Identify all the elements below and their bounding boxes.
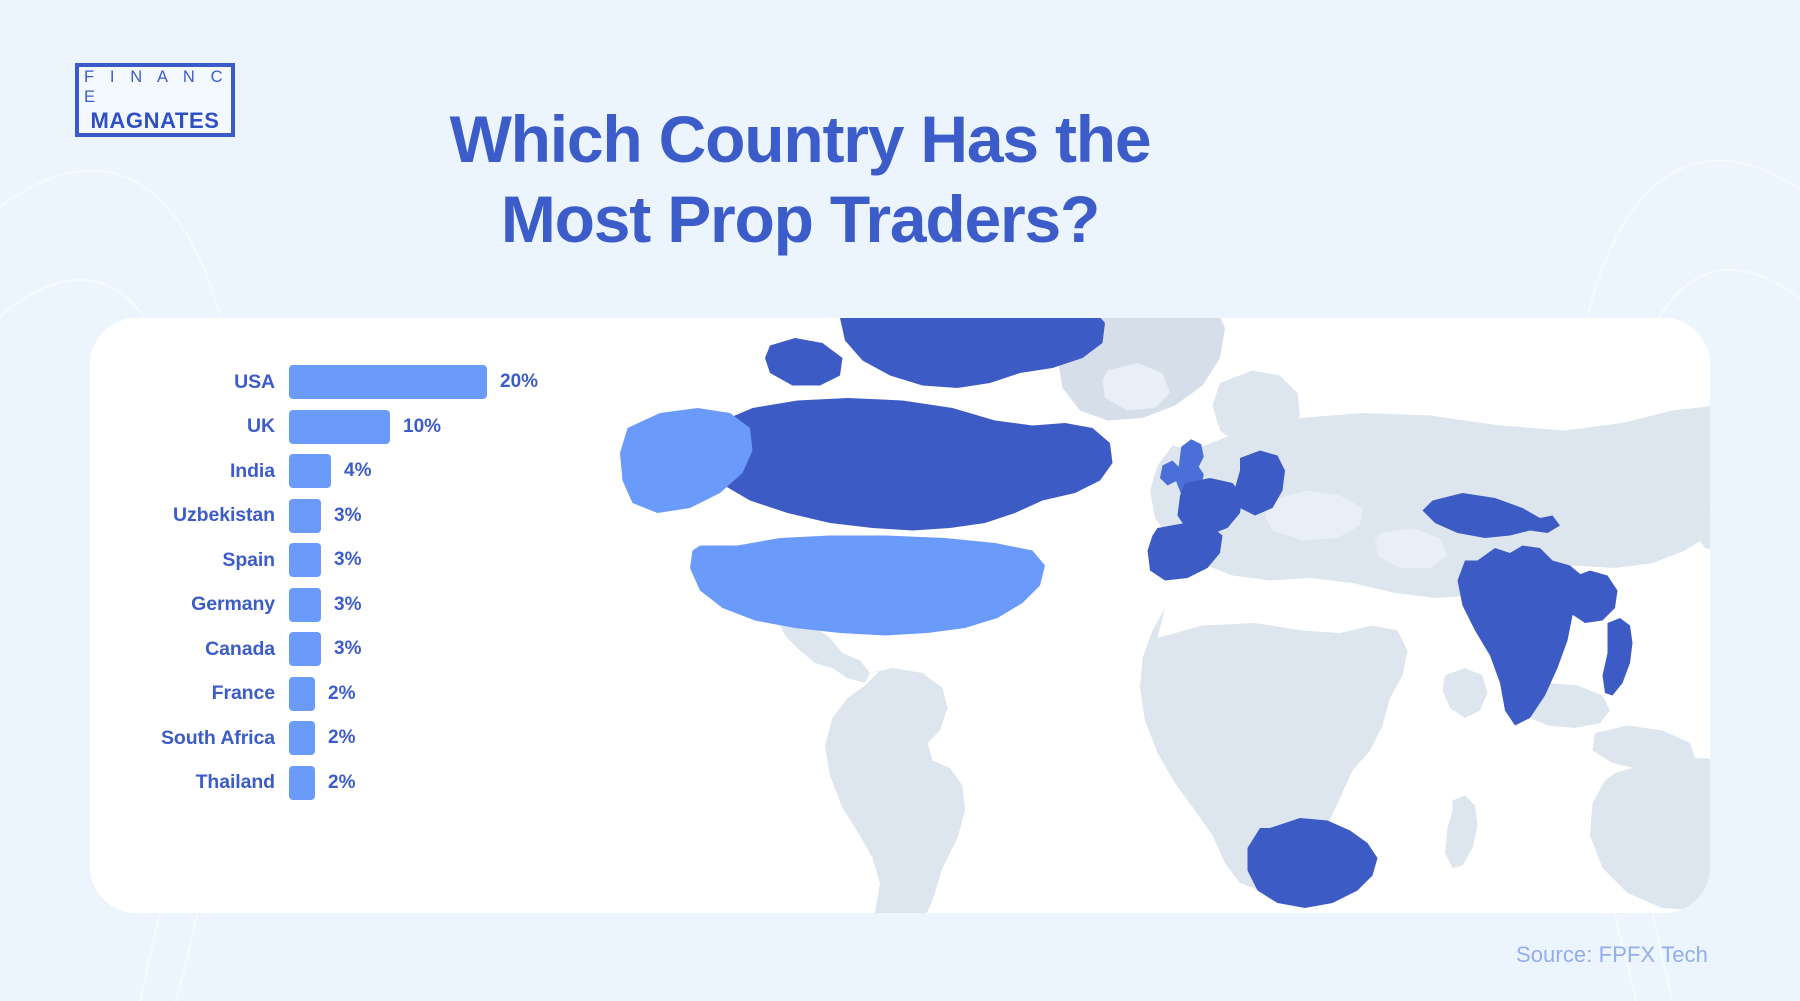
bar	[289, 454, 331, 488]
bar-category-label: Germany	[90, 593, 289, 616]
bar	[289, 632, 321, 666]
bar-chart-row: USA20%	[90, 360, 560, 405]
source-label: Source: FPFX Tech	[1516, 942, 1708, 968]
bar	[289, 721, 315, 755]
bar-value-label: 3%	[321, 549, 361, 571]
page-title-line-2: Most Prop Traders?	[300, 180, 1300, 260]
bar-category-label: Thailand	[90, 771, 289, 794]
bar-chart-row: France2%	[90, 672, 560, 717]
bar-category-label: UK	[90, 415, 289, 438]
map-country-thailand	[1603, 618, 1633, 696]
bar-chart-rows: USA20%UK10%India4%Uzbekistan3%Spain3%Ger…	[90, 360, 560, 805]
bar-chart-row: Spain3%	[90, 538, 560, 583]
bar	[289, 410, 390, 444]
bar-chart-row: Germany3%	[90, 583, 560, 628]
bar-category-label: India	[90, 460, 289, 483]
bar	[289, 677, 315, 711]
bar-category-label: Canada	[90, 638, 289, 661]
bar-chart-row: South Africa2%	[90, 716, 560, 761]
bar-value-label: 3%	[321, 505, 361, 527]
bar-category-label: Spain	[90, 549, 289, 572]
logo-line-finance: F I N A N C E	[79, 67, 231, 108]
bar-value-label: 2%	[315, 727, 355, 749]
bar-value-label: 2%	[315, 772, 355, 794]
bar-value-label: 20%	[487, 371, 538, 393]
bar-value-label: 4%	[331, 460, 371, 482]
bar-chart-row: Canada3%	[90, 627, 560, 672]
world-map-svg	[560, 318, 1710, 913]
finance-magnates-logo: F I N A N C E MAGNATES	[75, 63, 235, 137]
bar	[289, 766, 315, 800]
bar	[289, 365, 487, 399]
bar-category-label: South Africa	[90, 727, 289, 750]
map-country-south-africa	[1248, 818, 1378, 908]
content-card: USA20%UK10%India4%Uzbekistan3%Spain3%Ger…	[90, 318, 1710, 913]
bar-value-label: 3%	[321, 594, 361, 616]
bar-value-label: 2%	[315, 683, 355, 705]
bar-chart-row: Uzbekistan3%	[90, 494, 560, 539]
bar-chart-row: Thailand2%	[90, 761, 560, 806]
page-title-line-1: Which Country Has the	[300, 100, 1300, 180]
bar-value-label: 10%	[390, 416, 441, 438]
page-title: Which Country Has the Most Prop Traders?	[300, 100, 1300, 260]
bar-category-label: France	[90, 682, 289, 705]
bar-chart-row: India4%	[90, 449, 560, 494]
world-map	[560, 318, 1710, 913]
bar-value-label: 3%	[321, 638, 361, 660]
map-country-canada	[700, 318, 1113, 531]
bar-chart: USA20%UK10%India4%Uzbekistan3%Spain3%Ger…	[90, 318, 560, 913]
infographic-page: F I N A N C E MAGNATES Which Country Has…	[0, 0, 1800, 1001]
bar	[289, 588, 321, 622]
logo-line-magnates: MAGNATES	[90, 108, 219, 133]
bar-category-label: Uzbekistan	[90, 504, 289, 527]
bar-chart-row: UK10%	[90, 405, 560, 450]
bar	[289, 543, 321, 577]
bar	[289, 499, 321, 533]
bar-category-label: USA	[90, 371, 289, 394]
